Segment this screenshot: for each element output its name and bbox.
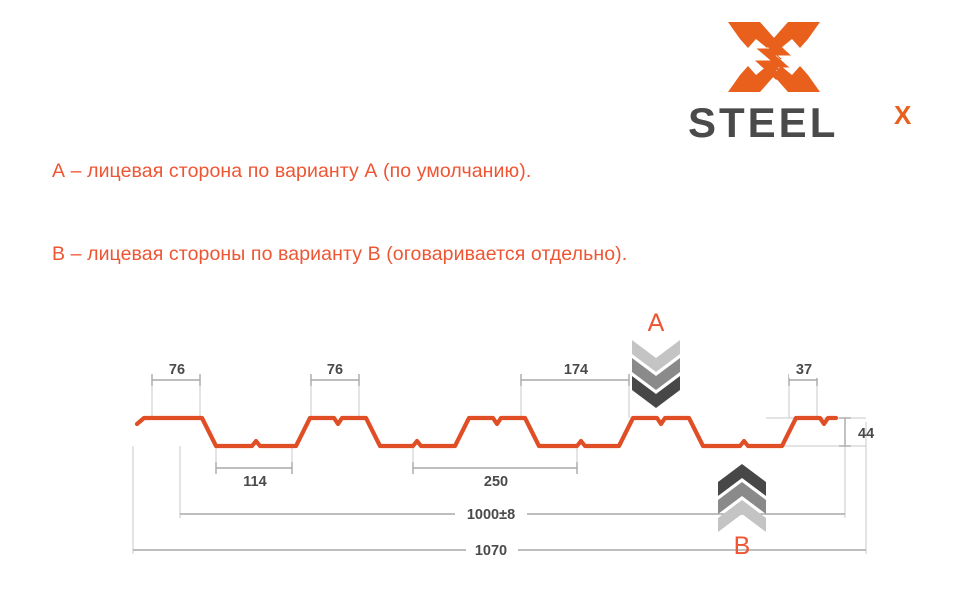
sheet-profile-line [137, 418, 836, 446]
marker-side-a: A [632, 309, 680, 408]
caption-variant-a: А – лицевая сторона по варианту А (по ум… [52, 160, 531, 183]
profile-technical-drawing: 76 76 174 37 114 250 44 1000±8 1070 [0, 296, 970, 591]
marker-side-b: B [718, 464, 766, 560]
marker-a-label: A [648, 309, 665, 337]
height-dimension-bar [839, 418, 851, 446]
dimension-label-37: 37 [796, 362, 812, 378]
dimension-label-1070: 1070 [475, 543, 507, 559]
dimension-label-44: 44 [858, 426, 874, 442]
dimension-label-1000: 1000±8 [467, 507, 515, 523]
wordmark-text: STEEL [688, 100, 838, 144]
wordmark-superscript: X [894, 100, 912, 130]
dimension-label-76-left: 76 [169, 362, 185, 378]
steelx-x-mark-icon [726, 18, 822, 96]
chevron-up-triple-icon [718, 464, 766, 532]
chevron-down-triple-icon [632, 340, 680, 408]
dimension-label-250: 250 [484, 474, 508, 490]
steelx-wordmark: STEEL X [688, 100, 940, 144]
brand-logo: STEEL X [688, 18, 940, 146]
caption-variant-b: В – лицевая стороны по варианту В (огова… [52, 243, 627, 266]
dimension-label-114: 114 [243, 474, 266, 490]
dimension-extension-lines [133, 374, 866, 554]
top-dimension-bars [152, 374, 817, 386]
dimension-label-76-mid: 76 [327, 362, 343, 378]
dimension-label-174: 174 [564, 362, 588, 378]
marker-b-label: B [734, 532, 751, 560]
